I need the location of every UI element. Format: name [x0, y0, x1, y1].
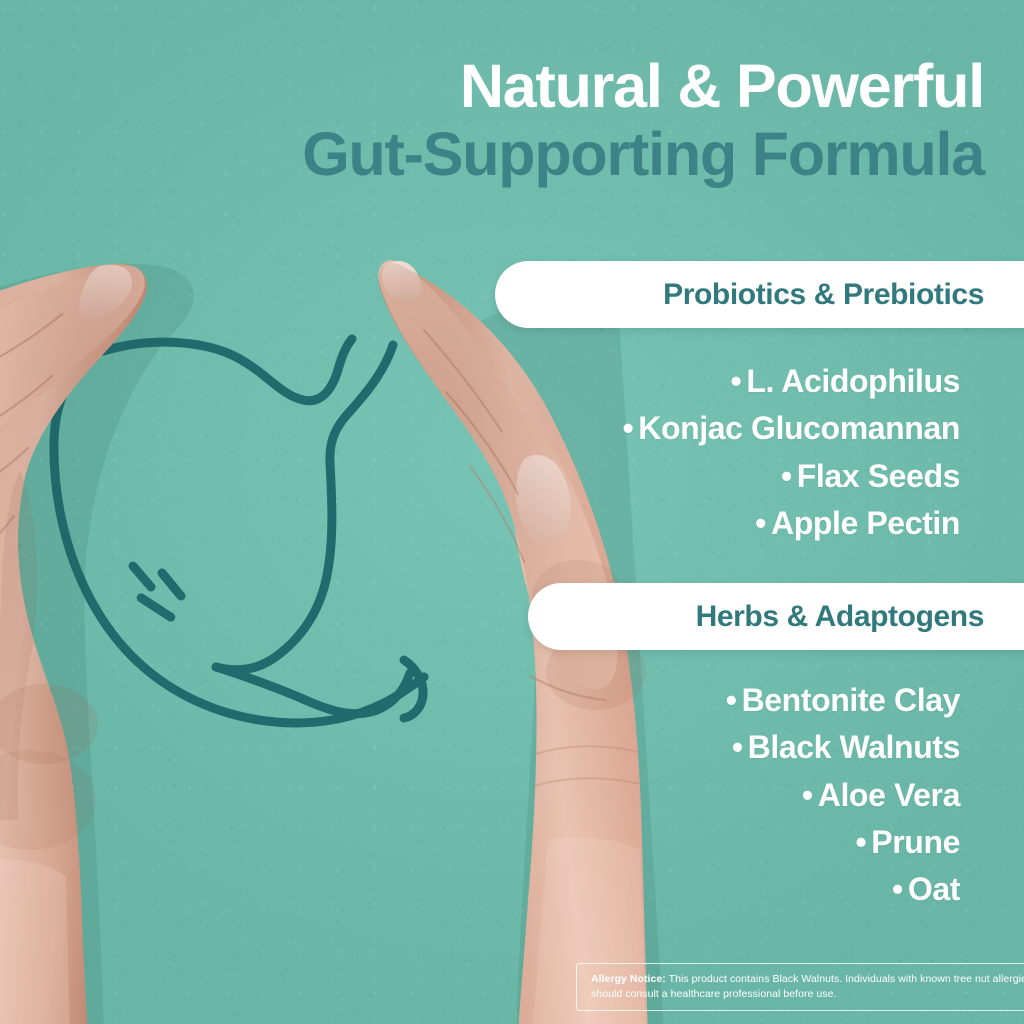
- list-item: •Black Walnuts: [726, 724, 960, 771]
- ingredient-label: Oat: [908, 871, 960, 907]
- bullet-icon: •: [781, 458, 792, 494]
- bullet-icon: •: [892, 871, 903, 907]
- ingredient-label: L. Acidophilus: [746, 363, 960, 399]
- ingredient-label: Flax Seeds: [797, 458, 960, 494]
- section-header-probiotics-label: Probiotics & Prebiotics: [663, 278, 984, 312]
- allergy-notice-text: Allergy Notice: This product contains Bl…: [591, 972, 1024, 1002]
- list-item: •Bentonite Clay: [726, 677, 960, 724]
- list-item: •Oat: [726, 866, 960, 913]
- page-title: Natural & Powerful Gut-Supporting Formul…: [40, 56, 984, 185]
- bullet-icon: •: [726, 682, 737, 718]
- ingredient-list-probiotics: •L. Acidophilus •Konjac Glucomannan •Fla…: [622, 358, 960, 547]
- bullet-icon: •: [802, 777, 813, 813]
- section-header-herbs-label: Herbs & Adaptogens: [696, 600, 984, 634]
- list-item: •L. Acidophilus: [622, 358, 960, 405]
- list-item: •Flax Seeds: [622, 453, 960, 500]
- allergy-notice: Allergy Notice: This product contains Bl…: [576, 963, 1024, 1011]
- ingredient-label: Prune: [871, 824, 960, 860]
- ingredient-label: Konjac Glucomannan: [638, 410, 960, 446]
- list-item: •Prune: [726, 819, 960, 866]
- headline-line-2: Gut-Supporting Formula: [40, 124, 984, 184]
- list-item: •Konjac Glucomannan: [622, 405, 960, 452]
- bullet-icon: •: [622, 410, 633, 446]
- list-item: •Aloe Vera: [726, 772, 960, 819]
- bullet-icon: •: [755, 505, 766, 541]
- ingredient-label: Black Walnuts: [748, 729, 960, 765]
- ingredient-list-herbs: •Bentonite Clay •Black Walnuts •Aloe Ver…: [726, 677, 960, 914]
- ingredient-label: Bentonite Clay: [742, 682, 960, 718]
- list-item: •Apple Pectin: [622, 500, 960, 547]
- ingredient-label: Aloe Vera: [818, 777, 960, 813]
- bullet-icon: •: [731, 363, 742, 399]
- allergy-notice-label: Allergy Notice:: [591, 973, 666, 985]
- section-header-probiotics[interactable]: Probiotics & Prebiotics: [495, 261, 1024, 328]
- section-header-herbs[interactable]: Herbs & Adaptogens: [528, 583, 1024, 650]
- product-infographic: Natural & Powerful Gut-Supporting Formul…: [0, 0, 1024, 1024]
- bullet-icon: •: [855, 824, 866, 860]
- ingredient-label: Apple Pectin: [771, 505, 960, 541]
- bullet-icon: •: [732, 729, 743, 765]
- headline-line-1: Natural & Powerful: [40, 56, 984, 116]
